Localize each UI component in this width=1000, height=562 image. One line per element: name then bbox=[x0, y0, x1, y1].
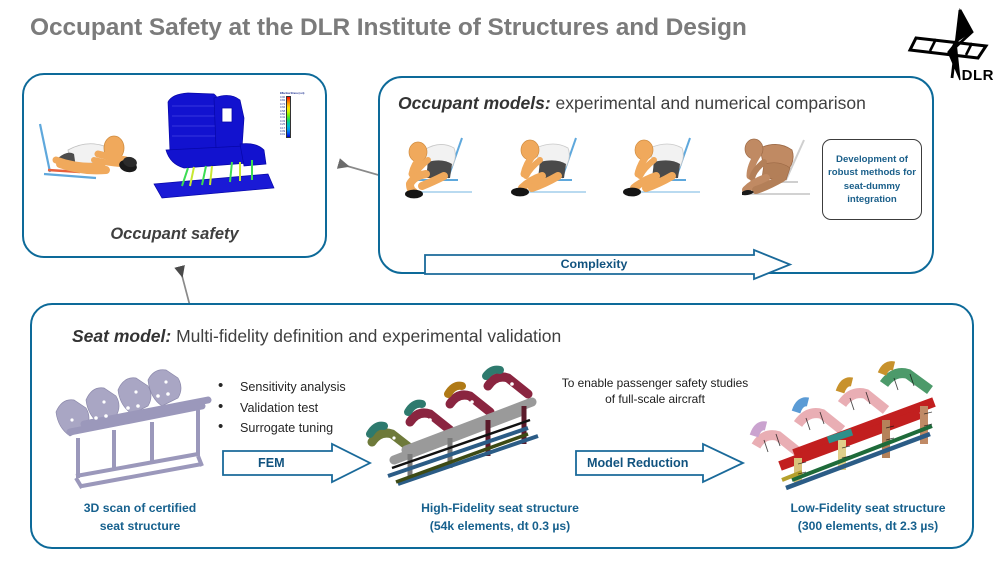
occupant-model-label: H2 aeronautic bbox=[996, 356, 1000, 367]
fem-process-arrow bbox=[222, 442, 372, 484]
low-fidelity-seat-model-image bbox=[742, 368, 938, 496]
occupant-model-human-body: Human Body model bbox=[724, 132, 834, 220]
high-fidelity-seat-model-image bbox=[362, 368, 540, 496]
seat-3d-scan-image bbox=[52, 366, 220, 496]
occupant-models-heading-rest: experimental and numerical comparison bbox=[551, 93, 866, 113]
occupant-model-row: H3 automotive H2 aeronaut bbox=[388, 132, 828, 220]
stress-color-legend: Effective Stress (v-m) 0.90 0.82 0.74 0.… bbox=[280, 92, 320, 154]
caption-line: High-Fidelity seat structure bbox=[350, 500, 650, 518]
model-reduction-arrow-label: Model Reduction bbox=[587, 456, 688, 470]
page-title: Occupant Safety at the DLR Institute of … bbox=[30, 14, 747, 42]
bullet-item: Validation test bbox=[212, 398, 346, 419]
occupant-safety-caption: Occupant safety bbox=[22, 225, 327, 244]
occupant-model-h2-aeronautic: H2 aeronautic bbox=[500, 132, 610, 220]
seat-model-heading-rest: Multi-fidelity definition and experiment… bbox=[171, 326, 561, 346]
bullet-item: Sensitivity analysis bbox=[212, 377, 346, 398]
seat-model-heading: Seat model: Multi-fidelity definition an… bbox=[72, 326, 561, 347]
occupant-model-h3-automotive: H3 automotive bbox=[388, 132, 498, 220]
dlr-logo-text: DLR bbox=[962, 67, 994, 84]
callout-development-methods: Development of robust methods for seat-d… bbox=[822, 139, 922, 220]
caption-low-fidelity: Low-Fidelity seat structure (300 element… bbox=[718, 500, 1000, 535]
complexity-label: Complexity bbox=[424, 257, 764, 271]
dummy-figure-icon bbox=[388, 132, 498, 202]
caption-high-fidelity: High-Fidelity seat structure (54k elemen… bbox=[350, 500, 650, 535]
seat-model-heading-lead: Seat model: bbox=[72, 326, 171, 346]
bullet-item: Surrogate tuning bbox=[212, 418, 346, 439]
seat-model-bullet-list: Sensitivity analysis Validation test Sur… bbox=[212, 377, 346, 439]
legend-values: 0.90 0.82 0.74 0.66 0.58 0.50 0.41 0.33 … bbox=[280, 96, 285, 138]
slide-canvas: Occupant Safety at the DLR Institute of … bbox=[0, 0, 1000, 562]
caption-line: 3D scan of certified bbox=[20, 500, 260, 518]
dummy-figure-icon bbox=[612, 132, 722, 202]
callout-text: Development of robust methods for seat-d… bbox=[823, 153, 921, 206]
caption-line: Low-Fidelity seat structure bbox=[718, 500, 1000, 518]
caption-line: (300 elements, dt 2.3 µs) bbox=[718, 518, 1000, 536]
crash-dummy-figure bbox=[34, 120, 154, 192]
caption-3d-scan: 3D scan of certified seat structure bbox=[20, 500, 260, 535]
caption-line: seat structure bbox=[20, 518, 260, 536]
note-enable-passenger-safety: To enable passenger safety studies of fu… bbox=[557, 375, 753, 407]
human-body-model-icon bbox=[724, 132, 834, 202]
legend-color-bar bbox=[286, 96, 291, 138]
dummy-figure-icon bbox=[500, 132, 610, 202]
fem-arrow-label: FEM bbox=[258, 456, 285, 470]
occupant-safety-simulation-image: Effective Stress (v-m) 0.90 0.82 0.74 0.… bbox=[30, 86, 320, 221]
seat-fe-model-image bbox=[148, 88, 278, 208]
occupant-model-h3-aeronautic: H3 aeronautic bbox=[612, 132, 722, 220]
legend-title: Effective Stress (v-m) bbox=[280, 92, 320, 95]
dlr-logo: DLR bbox=[908, 8, 996, 84]
caption-line: (54k elements, dt 0.3 µs) bbox=[350, 518, 650, 536]
occupant-models-heading: Occupant models: experimental and numeri… bbox=[398, 93, 866, 114]
occupant-models-heading-lead: Occupant models: bbox=[398, 93, 551, 113]
